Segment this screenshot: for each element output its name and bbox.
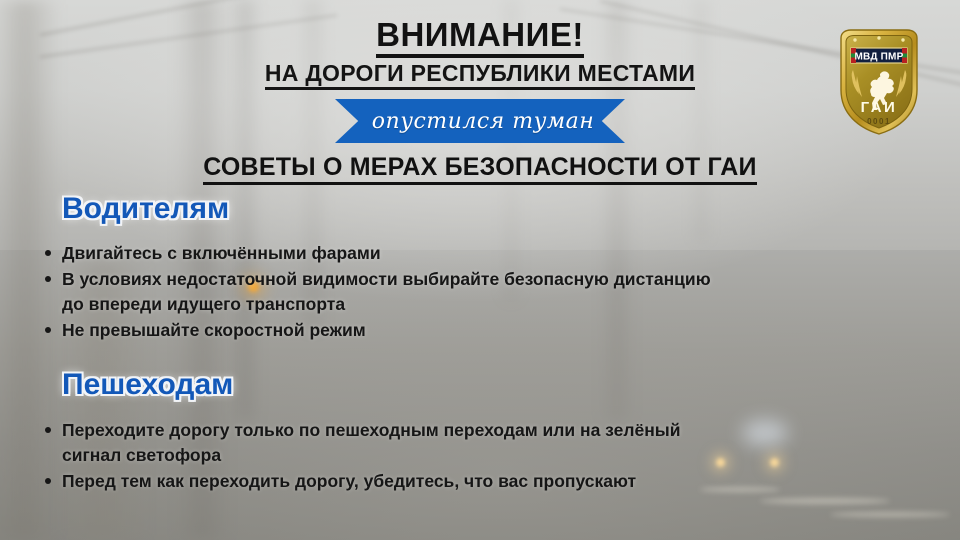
fog-ribbon-banner: опустился туман — [335, 99, 625, 143]
list-item: Переходите дорогу только по пешеходным п… — [40, 418, 920, 468]
svg-text:ГАИ: ГАИ — [861, 99, 898, 116]
svg-text:0001: 0001 — [867, 117, 891, 126]
section-heading-drivers: Водителям — [62, 192, 229, 226]
advice-title-text: СОВЕТЫ О МЕРАХ БЕЗОПАСНОСТИ ОТ ГАИ — [203, 153, 756, 185]
list-item-line1: В условиях недостаточной видимости выбир… — [62, 269, 711, 289]
svg-text:МВД ПМР: МВД ПМР — [855, 52, 904, 63]
poster-subtitle-text: НА ДОРОГИ РЕСПУБЛИКИ МЕСТАМИ — [265, 60, 695, 90]
list-item-line2: до впереди идущего транспорта — [62, 292, 920, 317]
list-item: Двигайтесь с включёнными фарами — [40, 241, 920, 266]
gai-mvd-pmr-badge-icon: МВД ПМР ГАИ 0001 — [833, 24, 925, 140]
road-marking — [830, 512, 950, 517]
list-item-line1: Двигайтесь с включёнными фарами — [62, 243, 381, 263]
bullet-icon — [45, 478, 51, 484]
road-marking — [760, 498, 890, 504]
drivers-tips-list: Двигайтесь с включёнными фарами В услови… — [40, 241, 920, 344]
bullet-icon — [45, 250, 51, 256]
list-item: В условиях недостаточной видимости выбир… — [40, 267, 920, 317]
bullet-icon — [45, 327, 51, 333]
fog-safety-poster: ВНИМАНИЕ! НА ДОРОГИ РЕСПУБЛИКИ МЕСТАМИ о… — [0, 0, 960, 540]
list-item-line2: сигнал светофора — [62, 443, 920, 468]
list-item-line1: Не превышайте скоростной режим — [62, 320, 366, 340]
list-item-line1: Переходите дорогу только по пешеходным п… — [62, 420, 680, 440]
fog-ribbon-text: опустился туман — [366, 109, 594, 134]
list-item-line1: Перед тем как переходить дорогу, убедите… — [62, 471, 636, 491]
advice-title: СОВЕТЫ О МЕРАХ БЕЗОПАСНОСТИ ОТ ГАИ — [0, 153, 960, 182]
poster-title: ВНИМАНИЕ! — [0, 16, 960, 54]
poster-title-text: ВНИМАНИЕ! — [376, 16, 584, 58]
list-item: Перед тем как переходить дорогу, убедите… — [40, 469, 920, 494]
pedestrians-tips-list: Переходите дорогу только по пешеходным п… — [40, 418, 920, 495]
list-item: Не превышайте скоростной режим — [40, 318, 920, 343]
bullet-icon — [45, 427, 51, 433]
bullet-icon — [45, 276, 51, 282]
poster-subtitle: НА ДОРОГИ РЕСПУБЛИКИ МЕСТАМИ — [0, 60, 960, 87]
section-heading-pedestrians: Пешеходам — [62, 368, 233, 402]
